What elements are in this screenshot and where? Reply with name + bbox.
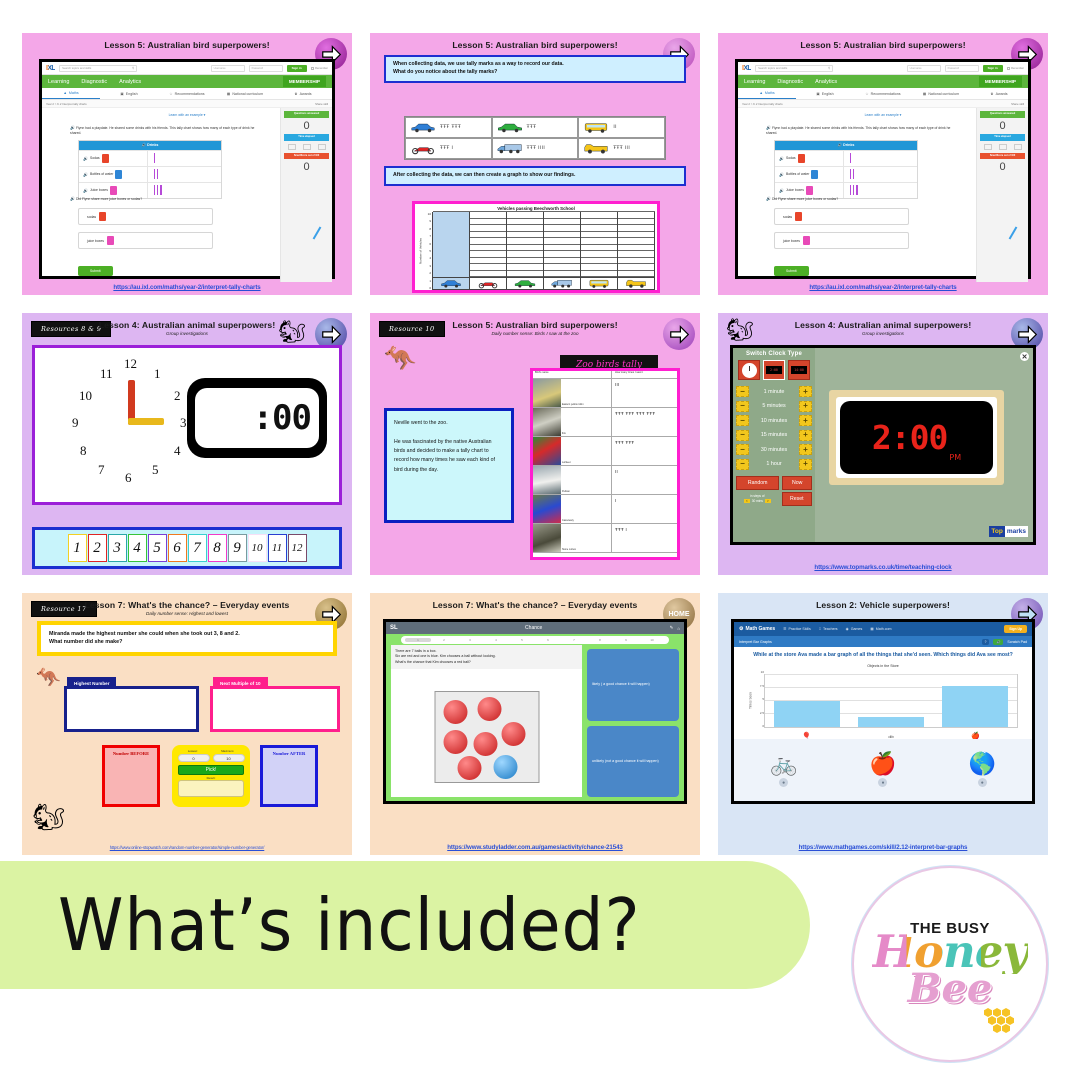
red-ball: [443, 730, 467, 754]
row-label-text: Bottles of water: [90, 172, 113, 176]
clock-number: 7: [98, 462, 105, 478]
table-row: 🔊 Bottles of water: [775, 166, 917, 182]
minus-button[interactable]: −: [736, 430, 749, 441]
answer-panel: likely ( a good chance it will happen) u…: [587, 645, 679, 797]
maximum-label: Maximum:: [221, 749, 234, 753]
maximum-input[interactable]: 10: [213, 754, 245, 762]
juice-box-icon: [110, 186, 117, 195]
nav-practice-skills[interactable]: ☰Practice Skills: [783, 627, 811, 631]
random-button[interactable]: Random: [736, 476, 779, 490]
mathgames-app-frame: ⚙ Math Games ☰Practice Skills ⎕Teachers …: [731, 619, 1035, 804]
clock-bezel: 2:00 PM: [836, 397, 997, 478]
juice-box-icon: [806, 186, 813, 195]
nav-item-learning[interactable]: Learning: [48, 79, 69, 85]
questions-answered-label: Questions answered: [284, 111, 329, 118]
answer-option-juice-boxes[interactable]: juice boxes: [78, 232, 213, 249]
step[interactable]: 9: [613, 638, 639, 642]
speaker-icon[interactable]: 🔊: [766, 125, 771, 131]
soda-icon: [99, 212, 106, 221]
panel-label: Next Multiple of 10: [213, 677, 268, 689]
slide-card-topmarks[interactable]: 🐿 Lesson 4: Australian animal superpower…: [718, 313, 1048, 575]
digital-clock: :00: [187, 378, 327, 458]
table-row: 🔊 Sodas: [79, 150, 221, 166]
now-button[interactable]: Now: [782, 476, 812, 490]
logo-tagline: THE BUSY: [907, 920, 993, 937]
number-card[interactable]: 5: [148, 534, 167, 562]
home-label: HOME: [669, 611, 690, 618]
bar-column: [507, 212, 544, 289]
logo-bee: Bee: [908, 970, 993, 1008]
tick: 4: [429, 256, 431, 260]
number-card[interactable]: 8: [208, 534, 227, 562]
whats-included-banner: What’s included?: [0, 861, 810, 989]
yellow-van-icon: [618, 277, 654, 289]
sign-in-button[interactable]: Sign in: [287, 65, 307, 72]
table-row: 🔊 Sodas: [775, 150, 917, 166]
bird-cell: Ibis: [533, 408, 611, 436]
random-number-generator: Lowest: Maximum: 0 10 Pick! Result:: [172, 745, 250, 807]
next-multiple-panel[interactable]: Next Multiple of 10: [210, 686, 340, 732]
tick: 7: [429, 234, 431, 238]
ixl-subject-tabs: ▲Maths ▣English ☆Recommendations ▦Nation…: [738, 88, 1028, 100]
step-row: − 5 minutes +: [736, 401, 812, 412]
slide-card-clock[interactable]: Resources 8 & 9 Lesson 4: Australian ani…: [22, 313, 352, 575]
step-row: − 30 minutes +: [736, 444, 812, 455]
sign-up-button[interactable]: Sign Up: [1004, 625, 1027, 633]
digital-time-value: :00: [253, 398, 311, 438]
password-field[interactable]: Password: [249, 65, 283, 72]
question-text: 🔊 Flynn had a playdate. He shared some d…: [70, 125, 260, 136]
tally-marks: [147, 167, 221, 182]
table-row: Eastern yellow robin III: [533, 379, 677, 408]
ixl-main-nav: Learning Diagnostic Analytics MEMBERSHIP: [42, 75, 332, 88]
tab-national-curriculum[interactable]: ▦National curriculum: [912, 88, 970, 99]
ixl-main-nav: Learning Diagnostic Analytics MEMBERSHIP: [738, 75, 1028, 88]
tab-english[interactable]: ▣English: [796, 88, 854, 99]
ixl-score-sidebar: Questions answered 0 Time elapsed SmartS…: [976, 108, 1028, 282]
answer-apple[interactable]: 🍎 ●: [833, 739, 932, 801]
tab-maths[interactable]: ▲Maths: [42, 88, 100, 99]
slide-card-ixl-1[interactable]: Lesson 5: Australian bird superpowers! I…: [22, 33, 352, 295]
membership-button[interactable]: MEMBERSHIP: [979, 76, 1022, 87]
slide-subtitle: Group investigations: [718, 331, 1048, 336]
number-card[interactable]: 12: [288, 534, 307, 562]
bird-name: Eastern yellow robin: [562, 403, 584, 406]
tab-label: National curriculum: [232, 92, 263, 96]
clock-display-area: ✕ 2:00 PM Top marks: [815, 348, 1033, 542]
red-ball: [501, 722, 525, 746]
skill-bar: Interpret Bar Graphs ? 🔊 Scratch Pad: [734, 636, 1032, 647]
truck-icon: [544, 277, 580, 289]
kangaroo-icon: 🦘: [384, 343, 416, 374]
plus-button[interactable]: +: [799, 386, 812, 397]
speaker-icon[interactable]: 🔊: [70, 125, 75, 131]
slides-grid: Lesson 5: Australian bird superpowers! I…: [0, 0, 1080, 850]
tally-marks: ŦŦŦ IIII: [527, 146, 546, 151]
generator-inputs: 0 10: [176, 754, 246, 762]
highest-number-panel[interactable]: Highest Number: [64, 686, 199, 732]
step[interactable]: 7: [561, 638, 587, 642]
nav-item-analytics[interactable]: Analytics: [119, 79, 141, 85]
sign-in-button[interactable]: Sign in: [983, 65, 1003, 72]
panel-label: Number AFTER: [263, 748, 315, 756]
slide-title: Lesson 5: Australian bird superpowers!: [370, 320, 700, 330]
ixl-search-input[interactable]: Search topics and skills ⚲: [755, 65, 833, 72]
tab-label: English: [822, 92, 834, 96]
plot-region: [764, 674, 1018, 728]
story-box: Neville went to the zoo. He was fascinat…: [384, 408, 514, 523]
number-card[interactable]: 10: [248, 534, 267, 562]
number-card[interactable]: 9: [228, 534, 247, 562]
studyladder-app-frame: SL Chance ✎ ⌂ 1 2 3 4 5 6 7 8 9 10: [383, 619, 687, 804]
nav-games[interactable]: ◉Games: [846, 627, 863, 631]
answer-radio[interactable]: ●: [779, 778, 788, 787]
next-arrow-icon[interactable]: [663, 318, 695, 350]
tally-cell: ŦŦŦ IIII: [492, 138, 579, 159]
tab-recommendations[interactable]: ☆Recommendations: [158, 88, 216, 99]
slide-title: Lesson 2: Vehicle superpowers!: [718, 600, 1048, 610]
wombat-icon: 🐿: [278, 319, 306, 345]
lowest-input[interactable]: 0: [178, 754, 210, 762]
tab-awards[interactable]: ♛Awards: [970, 88, 1028, 99]
bird-name: Stone curlew: [562, 548, 576, 551]
answer-globe[interactable]: 🌎 ●: [933, 739, 1032, 801]
steps-prev-button[interactable]: <: [744, 499, 750, 503]
row-label: 🔊 Sodas: [79, 154, 147, 163]
nav-label: Practice Skills: [788, 627, 810, 631]
reset-button[interactable]: Reset: [782, 492, 812, 506]
tab-label: Awards: [300, 92, 312, 96]
tab-national-curriculum[interactable]: ▦National curriculum: [216, 88, 274, 99]
lowest-label: Lowest:: [188, 749, 198, 753]
answer-option-sodas[interactable]: sodas: [78, 208, 213, 225]
row-label-text: Bottles of water: [786, 172, 809, 176]
question-banner: Miranda made the highest number she coul…: [37, 621, 337, 656]
clock-number: 5: [152, 462, 159, 478]
row-label: 🔊 Bottles of water: [775, 170, 843, 179]
app-body: There are 7 balls in a box. Six are red …: [386, 645, 684, 802]
ixl-browser-frame: IXL Search topics and skills ⚲ Username …: [39, 59, 335, 279]
col-header-count: How many times I saw it: [611, 371, 677, 378]
bar-column: [618, 212, 655, 289]
slide-title: Lesson 5: Australian bird superpowers!: [22, 40, 352, 50]
lorikeet-photo: [533, 437, 561, 465]
help-icon[interactable]: ?: [982, 639, 990, 645]
maths-icon: ▲: [63, 91, 67, 95]
bar-column: [544, 212, 581, 289]
remember-checkbox[interactable]: Remember: [1007, 67, 1024, 70]
bird-name: Ibis: [562, 432, 566, 435]
minute-hand[interactable]: [128, 418, 164, 425]
bar-dib: [858, 717, 924, 727]
soda-icon: [795, 212, 802, 221]
step[interactable]: 8: [587, 638, 613, 642]
tally-marks: ŦŦŦ I: [440, 146, 453, 151]
answer-bicycle[interactable]: 🚲 ●: [734, 739, 833, 801]
studyladder-logo: SL: [390, 625, 398, 631]
tab-recommendations[interactable]: ☆Recommendations: [854, 88, 912, 99]
y-axis-label: Number of Vehicles: [417, 212, 424, 290]
smartscore-label: SmartScore out of 100: [980, 153, 1025, 160]
vehicles-bar-chart: Vehicles passing Beechworth School Numbe…: [412, 201, 660, 293]
generator-labels: Lowest: Maximum:: [176, 749, 246, 753]
tab-english[interactable]: ▣English: [100, 88, 158, 99]
question-2-text: 🔊 Did Flynn share more juice boxes or so…: [70, 196, 142, 201]
number-card[interactable]: 1: [68, 534, 87, 562]
number-card[interactable]: 4: [128, 534, 147, 562]
app-titlebar: SL Chance ✎ ⌂: [386, 622, 684, 634]
minus-button[interactable]: −: [736, 444, 749, 455]
steps-next-button[interactable]: >: [765, 499, 771, 503]
submit-button[interactable]: Submit: [78, 266, 113, 276]
tab-maths[interactable]: ▲Maths: [738, 88, 796, 99]
submit-button[interactable]: Submit: [774, 266, 809, 276]
speaker-icon[interactable]: 🔊: [993, 639, 1003, 645]
tab-label: Maths: [765, 91, 775, 95]
search-icon: ⚲: [828, 66, 830, 70]
book-icon: ▣: [120, 92, 123, 96]
answer-option-unlikely[interactable]: unlikely (not a good chance it will happ…: [587, 726, 679, 798]
plus-button[interactable]: +: [799, 401, 812, 412]
question-2-body: Did Flynn share more juice boxes or soda…: [772, 197, 838, 201]
ixl-logo: IXL: [46, 65, 55, 72]
plus-button[interactable]: +: [799, 459, 812, 470]
number-card[interactable]: 11: [268, 534, 287, 562]
clock-number: 6: [125, 470, 132, 486]
bar-column: [433, 212, 470, 289]
bird-tally-table: Bird's name How many times I saw it East…: [530, 368, 680, 560]
table-row: Pelican II: [533, 466, 677, 495]
trophy-icon: ♛: [294, 92, 297, 96]
step[interactable]: 5: [509, 638, 535, 642]
answer-option-likely[interactable]: likely ( a good chance it will happen): [587, 649, 679, 721]
steps-of-label: in steps of: [736, 494, 779, 498]
plus-button[interactable]: +: [799, 430, 812, 441]
water-bottle-icon: [115, 170, 122, 179]
pelican-photo: [533, 466, 561, 494]
speaker-icon[interactable]: 🔊: [83, 188, 88, 193]
speaker-icon[interactable]: 🔊: [70, 196, 75, 201]
topmarks-app-frame: Switch Clock Type 2:00 14:00 − 1 minute …: [730, 345, 1036, 545]
yellow-van-icon: [583, 142, 609, 155]
red-ball: [443, 700, 467, 724]
remember-checkbox[interactable]: Remember: [311, 67, 328, 70]
slide-subtitle: Daily number sense: Highest and lowest: [22, 611, 352, 616]
question-panel: There are 7 balls in a box. Six are red …: [391, 645, 582, 797]
table-row: Cassowary I: [533, 495, 677, 524]
col-header-bird: Bird's name: [533, 371, 611, 378]
minus-button[interactable]: −: [736, 386, 749, 397]
nav-item-diagnostic[interactable]: Diagnostic: [81, 79, 107, 85]
wombat-icon: 🐿: [32, 802, 65, 833]
tally-cell: ŦŦŦ III: [578, 138, 665, 159]
table-row: Lorikeet ŦŦŦ ŦŦŦ: [533, 437, 677, 466]
step-row: − 1 hour +: [736, 459, 812, 470]
source-url[interactable]: https://www.studyladder.com.au/games/act…: [370, 844, 700, 851]
close-icon[interactable]: ✕: [1020, 352, 1029, 361]
nav-item-learning[interactable]: Learning: [744, 79, 765, 85]
row-label-text: Sodas: [786, 156, 796, 160]
tally-marks: ŦŦŦ ŦŦŦ ŦŦŦ ŦŦŦ: [611, 408, 677, 436]
search-placeholder-text: Search topics and skills: [758, 66, 787, 70]
tally-marks: III: [611, 379, 677, 407]
step[interactable]: 4: [483, 638, 509, 642]
bird-cell: Lorikeet: [533, 437, 611, 465]
panel-label: Highest Number: [67, 677, 116, 689]
remember-label: Remember: [1011, 67, 1024, 70]
slide-card-zoo-birds[interactable]: Resource 10 Lesson 5: Australian bird su…: [370, 313, 700, 575]
speaker-icon[interactable]: 🔊: [83, 156, 88, 161]
step[interactable]: 1: [405, 638, 431, 642]
bird-name: Cassowary: [562, 519, 574, 522]
tab-awards[interactable]: ♛Awards: [274, 88, 332, 99]
tick: 6: [429, 242, 431, 246]
breadcrumb-text: Year 2 > K.2 Interpret tally charts: [46, 102, 87, 106]
digital-24h-type-button[interactable]: 14:00: [788, 360, 810, 380]
clock-meridiem: PM: [949, 453, 961, 462]
app-title: Chance: [398, 625, 670, 631]
minus-button[interactable]: −: [736, 401, 749, 412]
membership-button[interactable]: MEMBERSHIP: [283, 76, 326, 87]
clock-number: 12: [124, 356, 137, 372]
analog-clock-type-button[interactable]: [738, 360, 760, 380]
digital-12h-type-button[interactable]: 2:00: [763, 360, 785, 380]
digital-display: :00: [195, 388, 319, 448]
red-ball: [477, 697, 501, 721]
step[interactable]: 10: [639, 638, 665, 642]
tally-cell: ŦŦŦ ŦŦŦ: [405, 117, 492, 138]
nav-math-com[interactable]: ▦Math.com: [870, 627, 891, 631]
steps-value: 30 mins: [752, 499, 763, 503]
home-icon[interactable]: ⌂: [677, 626, 680, 631]
ixl-topbar: IXL Search topics and skills ⚲ Username …: [738, 62, 1028, 75]
username-field[interactable]: Username: [907, 65, 941, 72]
minus-button[interactable]: −: [736, 415, 749, 426]
nav-label: Teachers: [823, 627, 838, 631]
step[interactable]: 3: [457, 638, 483, 642]
pencil-icon[interactable]: ✎: [670, 625, 674, 631]
number-card-strip: 1 2 3 4 5 6 7 8 9 10 11 12: [32, 527, 342, 569]
ixl-question-area: Learn with an example ▾ 🔊 Flynn had a pl…: [42, 108, 332, 282]
nav-item-analytics[interactable]: Analytics: [815, 79, 837, 85]
blue-car-icon: [410, 121, 436, 134]
share-skill-link[interactable]: Share skill: [1011, 102, 1024, 106]
minus-button[interactable]: −: [736, 459, 749, 470]
slide-card-ixl-2[interactable]: Lesson 5: Australian bird superpowers! I…: [718, 33, 1048, 295]
answer-choices: 🚲 ● 🍎 ● 🌎 ●: [734, 739, 1032, 801]
ixl-search-input[interactable]: Search topics and skills ⚲: [59, 65, 137, 72]
clock-number: 3: [180, 415, 187, 431]
slide-card-studyladder[interactable]: Lesson 7: What's the chance? – Everyday …: [370, 593, 700, 855]
clock-number: 11: [100, 366, 113, 382]
number-card[interactable]: 7: [188, 534, 207, 562]
bird-cell: Stone curlew: [533, 524, 611, 552]
password-field[interactable]: Password: [945, 65, 979, 72]
stone-curlew-photo: [533, 524, 561, 552]
yellow-bus-icon: [581, 277, 617, 289]
step[interactable]: 6: [535, 638, 561, 642]
slide-card-vehicles[interactable]: Lesson 5: Australian bird superpowers! W…: [370, 33, 700, 295]
plus-button[interactable]: +: [799, 444, 812, 455]
pick-button[interactable]: Pick!: [178, 765, 244, 775]
time-elapsed-label: Time elapsed: [284, 134, 329, 141]
checkbox-icon: [311, 67, 314, 70]
controls-panel: Switch Clock Type 2:00 14:00 − 1 minute …: [733, 348, 815, 542]
nav-item-diagnostic[interactable]: Diagnostic: [777, 79, 803, 85]
slide-title: Lesson 7: What's the chance? – Everyday …: [22, 600, 352, 610]
red-ball: [457, 756, 481, 780]
tab-label: National curriculum: [928, 92, 959, 96]
answer-option-juice-boxes[interactable]: juice boxes: [774, 232, 909, 249]
tick: 9: [429, 219, 431, 223]
number-before-panel[interactable]: Number BEFORE: [102, 745, 160, 807]
speaker-icon[interactable]: 🔊: [779, 188, 784, 193]
tab-label: Recommendations: [871, 92, 901, 96]
number-card[interactable]: 6: [168, 534, 187, 562]
speaker-icon[interactable]: 🔊: [83, 172, 88, 177]
steps-row: in steps of < 30 mins > Reset: [736, 492, 812, 506]
step[interactable]: 2: [431, 638, 457, 642]
balls-image: [434, 691, 539, 783]
username-field[interactable]: Username: [211, 65, 245, 72]
speaker-icon[interactable]: 🔊: [766, 196, 771, 201]
y-axis-ticks: 10 7.5 5 2.5 0: [753, 670, 764, 728]
ixl-logo: IXL: [742, 65, 751, 72]
source-url[interactable]: https://www.online-stopwatch.com/random-…: [22, 846, 352, 851]
share-skill-link[interactable]: Share skill: [315, 102, 328, 106]
monitor-icon: ⎕: [819, 627, 821, 631]
answer-radio[interactable]: ●: [878, 778, 887, 787]
star-icon: ☆: [865, 92, 868, 96]
trophy-icon: ♛: [990, 92, 993, 96]
speaker-icon[interactable]: 🔊: [779, 156, 784, 161]
table-header: 🔊 Drinks: [79, 141, 221, 150]
puzzle-icon: ⚙: [739, 626, 743, 632]
slide-card-mathgames[interactable]: Lesson 2: Vehicle superpowers! ⚙ Math Ga…: [718, 593, 1048, 855]
logo-part-top: Top: [989, 526, 1004, 537]
question-body: Flynn had a playdate. He shared some dri…: [70, 126, 254, 135]
bird-cell: Eastern yellow robin: [533, 379, 611, 407]
nav-teachers[interactable]: ⎕Teachers: [819, 627, 838, 631]
breadcrumb: Year 2 > K.2 Interpret tally charts Shar…: [42, 100, 332, 108]
speaker-icon[interactable]: 🔊: [779, 172, 784, 177]
green-car-icon: [507, 277, 543, 289]
answer-option-sodas[interactable]: sodas: [774, 208, 909, 225]
plus-button[interactable]: +: [799, 415, 812, 426]
scratch-pad-button[interactable]: Scratch Pad: [1007, 640, 1027, 644]
answer-radio[interactable]: ●: [978, 778, 987, 787]
clock-number: 4: [174, 443, 181, 459]
tab-label: Recommendations: [175, 92, 205, 96]
source-url[interactable]: https://au.ixl.com/maths/year-2/interpre…: [718, 284, 1048, 291]
source-url[interactable]: https://www.mathgames.com/skill/2.12-int…: [718, 844, 1048, 851]
option-label: sodas: [783, 215, 792, 219]
tally-marks: [843, 183, 917, 198]
search-icon: ⚲: [132, 66, 134, 70]
clock-face-icon: [742, 363, 757, 378]
number-after-panel[interactable]: Number AFTER: [260, 745, 318, 807]
result-output: [178, 780, 244, 797]
source-url[interactable]: https://www.topmarks.co.uk/time/teaching…: [718, 564, 1048, 571]
soda-icon: [102, 154, 109, 163]
number-card[interactable]: 2: [88, 534, 107, 562]
number-card[interactable]: 3: [108, 534, 127, 562]
slide-card-highest-lowest[interactable]: Resource 17 Lesson 7: What's the chance?…: [22, 593, 352, 855]
lcd-icon: 2:00: [766, 366, 782, 374]
step-label: 10 minutes: [751, 418, 797, 424]
remember-label: Remember: [315, 67, 328, 70]
source-url[interactable]: https://au.ixl.com/maths/year-2/interpre…: [22, 284, 352, 291]
